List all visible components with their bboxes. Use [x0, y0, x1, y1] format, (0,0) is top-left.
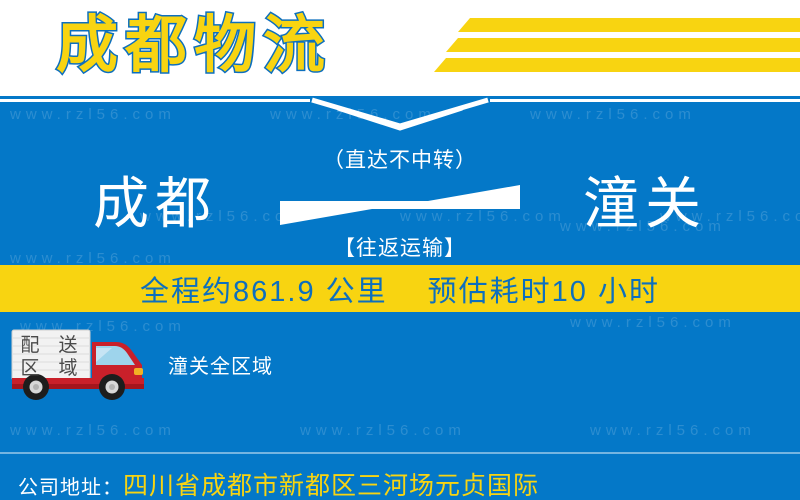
banner-body: www.rzl56.com www.rzl56.com www.rzl56.co… [0, 96, 800, 500]
duration-stat: 预估耗时10 小时 [428, 268, 660, 310]
route-row: 成都 （直达不中转） 【往返运输】 潼关 [0, 154, 800, 264]
footer-divider [0, 452, 800, 454]
origin-city: 成都 [30, 154, 280, 254]
truck-box-char-2: 区 [20, 358, 39, 379]
delivery-area-text: 潼关全区域 [168, 350, 273, 379]
direct-note: （直达不中转） [280, 144, 520, 174]
watermark: www.rzl56.com [300, 422, 466, 439]
delivery-truck-icon: 配 送 区 域 [8, 324, 158, 402]
logistics-banner: 成都物流 www.rzl56.com www.rzl56.com www.rzl… [0, 0, 800, 500]
watermark: www.rzl56.com [590, 422, 756, 439]
truck-box-char-0: 配 [20, 335, 39, 356]
company-address: 公司地址：四川省成都市新都区三河场元贞国际 [18, 466, 539, 500]
speed-lines-icon [410, 16, 800, 78]
bidirectional-arrow-icon [280, 179, 520, 231]
truck-box-char-1: 送 [58, 334, 77, 356]
header-strip: 成都物流 [0, 0, 800, 96]
address-label: 公司地址： [18, 477, 123, 499]
delivery-row: 配 送 区 域 潼关全区域 [0, 324, 800, 404]
distance-stat: 全程约861.9 公里 [140, 268, 388, 310]
double-chevron-down-icon [0, 96, 800, 136]
destination-city: 潼关 [520, 154, 770, 254]
address-value: 四川省成都市新都区三河场元贞国际 [123, 472, 539, 500]
roundtrip-note: 【往返运输】 [280, 232, 520, 262]
watermark: www.rzl56.com [10, 422, 176, 439]
page-title: 成都物流 [56, 0, 332, 94]
stats-bar: 全程约861.9 公里 预估耗时10 小时 [0, 265, 800, 312]
truck-box-char-3: 域 [58, 357, 77, 379]
